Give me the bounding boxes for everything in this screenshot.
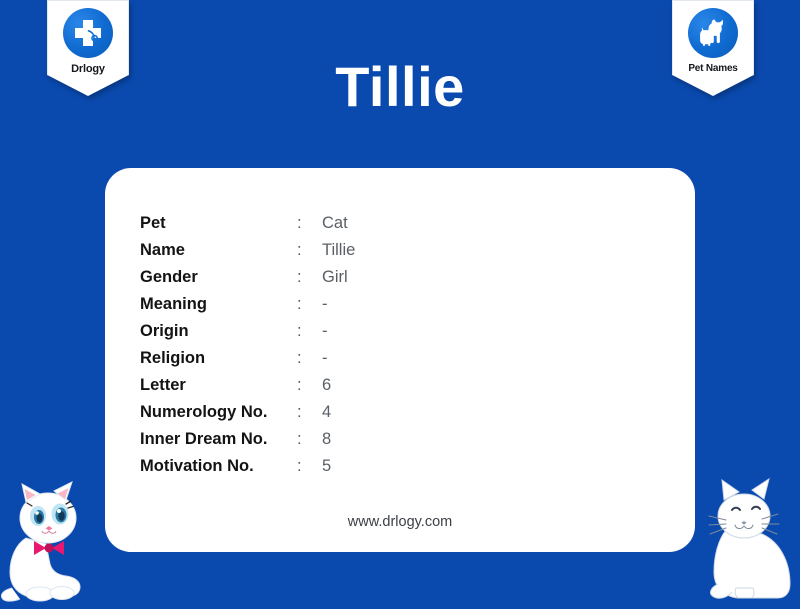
- drlogy-medical-cross-icon: [63, 8, 113, 58]
- row-label: Letter: [140, 372, 297, 399]
- row-label: Numerology No.: [140, 399, 297, 426]
- table-row: Meaning : -: [140, 291, 355, 318]
- pet-name-card-page: { "theme": { "background": "#0a4aaf", "c…: [0, 0, 800, 600]
- white-sitting-cat-illustration: [706, 472, 798, 600]
- white-cat-with-bow-illustration: [0, 456, 92, 604]
- row-label: Name: [140, 237, 297, 264]
- row-value: Girl: [322, 264, 355, 291]
- table-row: Letter : 6: [140, 372, 355, 399]
- row-separator: :: [297, 453, 322, 480]
- row-label: Motivation No.: [140, 453, 297, 480]
- table-row: Pet : Cat: [140, 210, 355, 237]
- row-label: Origin: [140, 318, 297, 345]
- pet-details-rows: Pet : Cat Name : Tillie Gender : Girl Me…: [140, 210, 355, 480]
- row-separator: :: [297, 399, 322, 426]
- table-row: Religion : -: [140, 345, 355, 372]
- row-separator: :: [297, 291, 322, 318]
- row-value: 6: [322, 372, 355, 399]
- row-value: -: [322, 318, 355, 345]
- row-value: 8: [322, 426, 355, 453]
- dog-and-cat-icon: [688, 8, 738, 58]
- row-separator: :: [297, 372, 322, 399]
- row-value: 5: [322, 453, 355, 480]
- row-separator: :: [297, 264, 322, 291]
- table-row: Gender : Girl: [140, 264, 355, 291]
- row-value: -: [322, 345, 355, 372]
- row-value: Tillie: [322, 237, 355, 264]
- website-url: www.drlogy.com: [105, 514, 695, 530]
- row-value: -: [322, 291, 355, 318]
- row-label: Religion: [140, 345, 297, 372]
- table-row: Origin : -: [140, 318, 355, 345]
- row-label: Inner Dream No.: [140, 426, 297, 453]
- table-row: Numerology No. : 4: [140, 399, 355, 426]
- row-separator: :: [297, 237, 322, 264]
- table-row: Name : Tillie: [140, 237, 355, 264]
- table-row: Inner Dream No. : 8: [140, 426, 355, 453]
- row-separator: :: [297, 345, 322, 372]
- row-separator: :: [297, 318, 322, 345]
- row-label: Meaning: [140, 291, 297, 318]
- page-title: Tillie: [0, 58, 800, 117]
- row-separator: :: [297, 426, 322, 453]
- row-label: Pet: [140, 210, 297, 237]
- row-value: Cat: [322, 210, 355, 237]
- row-separator: :: [297, 210, 322, 237]
- pet-details-table: Pet : Cat Name : Tillie Gender : Girl Me…: [140, 210, 355, 480]
- pet-info-card: Pet : Cat Name : Tillie Gender : Girl Me…: [105, 168, 695, 552]
- row-label: Gender: [140, 264, 297, 291]
- table-row: Motivation No. : 5: [140, 453, 355, 480]
- row-value: 4: [322, 399, 355, 426]
